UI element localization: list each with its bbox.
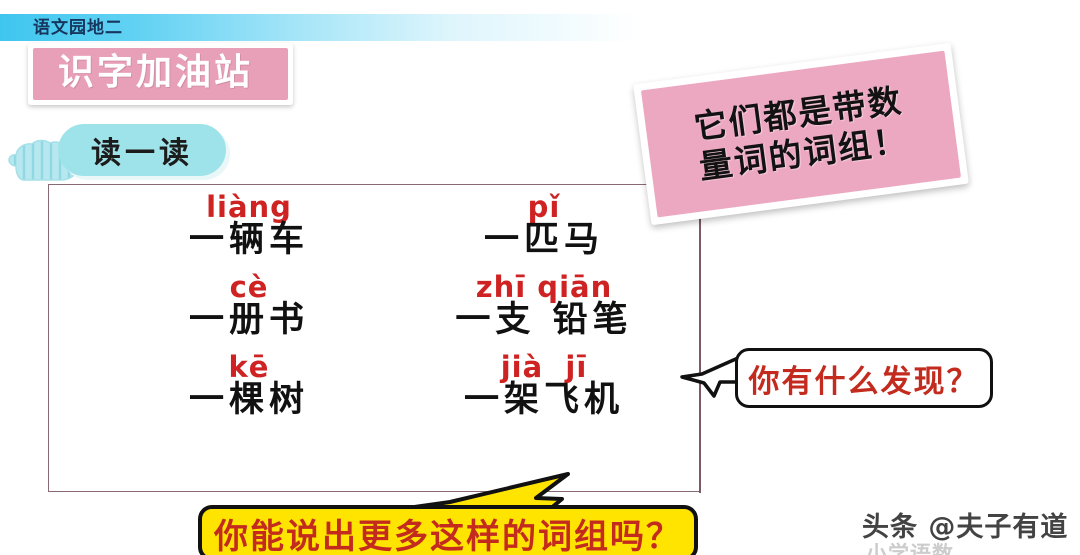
- pinyin-text: jià jī: [399, 353, 689, 382]
- section-banner: 识字加油站: [28, 43, 293, 105]
- pink-placard: 它们都是带数 量词的词组！: [633, 43, 969, 226]
- hanzi-text: 一支 铅笔: [399, 302, 689, 339]
- hanzi-text: 一棵树: [119, 382, 379, 419]
- word-item: zhī qiān 一支 铅笔: [399, 273, 689, 339]
- hanzi-text: 一辆车: [119, 222, 379, 259]
- pinyin-text: kē: [119, 353, 379, 382]
- pinyin-text: zhī qiān: [399, 273, 689, 302]
- word-item: jià jī 一架飞机: [399, 353, 689, 419]
- lesson-title: 语文园地二: [33, 15, 123, 42]
- word-item: cè 一册书: [119, 273, 379, 339]
- section-banner-label: 识字加油站: [28, 43, 283, 95]
- word-column-right: pǐ 一匹马 zhī qiān 一支 铅笔 jià jī 一架飞机: [399, 185, 689, 418]
- pinyin-text: cè: [119, 273, 379, 302]
- word-list-box: liàng 一辆车 cè 一册书 kē 一棵树 pǐ 一匹马 zhī qiān …: [48, 184, 700, 492]
- word-column-left: liàng 一辆车 cè 一册书 kē 一棵树: [119, 185, 379, 418]
- pinyin-text: pǐ: [399, 193, 689, 222]
- word-item: liàng 一辆车: [119, 193, 379, 259]
- yellow-bubble-text: 你能说出更多这样的词组吗？: [214, 509, 682, 555]
- activity-tag-label: 读一读: [58, 124, 226, 176]
- slide-canvas: 语文园地二 识字加油站: [0, 0, 1080, 555]
- hanzi-text: 一册书: [119, 302, 379, 339]
- word-item: pǐ 一匹马: [399, 193, 689, 259]
- watermark-line-2: 小学语数: [866, 538, 1076, 555]
- white-bubble-text: 你有什么发现？: [749, 356, 980, 401]
- pinyin-text: liàng: [119, 193, 379, 222]
- pink-placard-fill: 它们都是带数 量词的词组！: [641, 51, 961, 218]
- hanzi-text: 一架飞机: [399, 382, 689, 419]
- yellow-speech-bubble: 你能说出更多这样的词组吗？: [198, 505, 698, 555]
- word-item: kē 一棵树: [119, 353, 379, 419]
- hanzi-text: 一匹马: [399, 222, 689, 259]
- white-speech-bubble: 你有什么发现？: [735, 348, 993, 408]
